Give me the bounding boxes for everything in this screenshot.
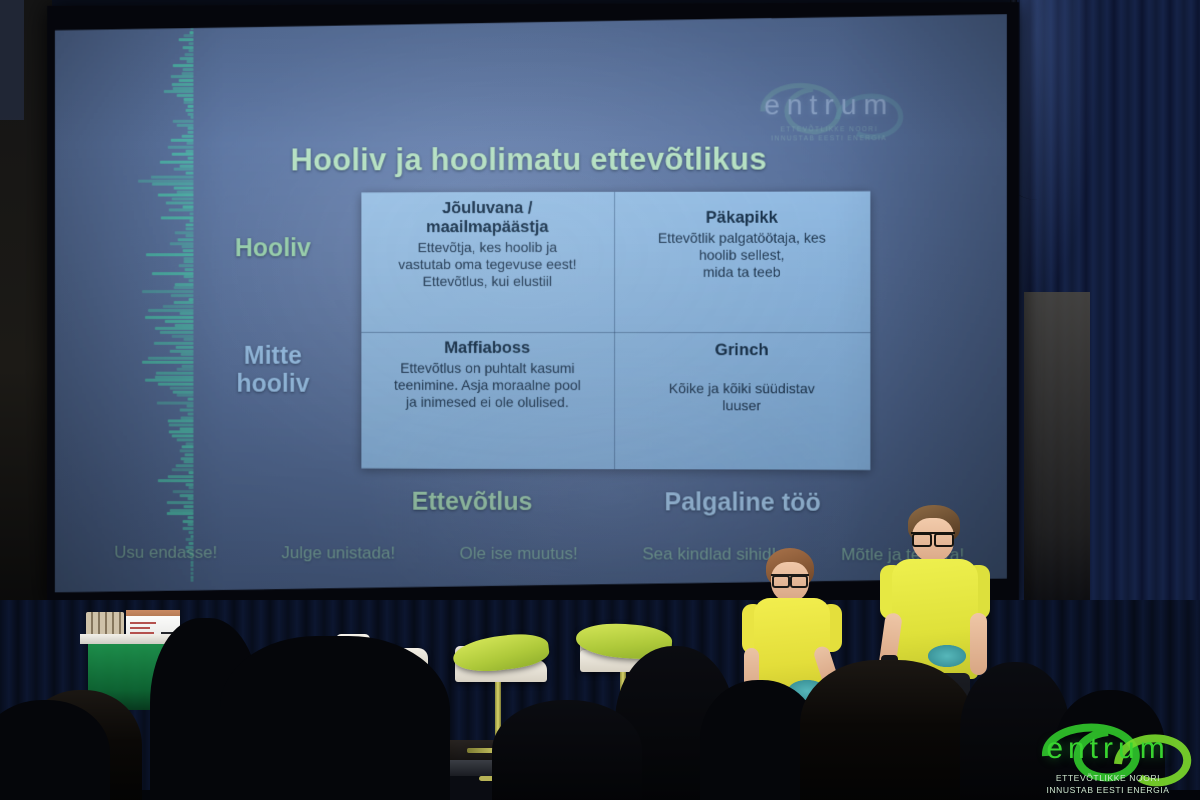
waveform-bar: [179, 494, 193, 497]
corner-logo-wordmark: entrum: [1022, 732, 1194, 766]
waveform-bar: [173, 86, 194, 89]
waveform-bar: [186, 442, 194, 445]
waveform-bar: [165, 320, 194, 323]
waveform-bar: [179, 449, 193, 452]
waveform-bar: [184, 261, 194, 264]
waveform-bar: [171, 83, 193, 86]
waveform-bar: [172, 335, 194, 338]
waveform-bar: [176, 346, 194, 349]
waveform-bar: [172, 198, 194, 201]
waveform-bar: [168, 420, 194, 423]
corner-logo-tagline: ETTEVÕTLIKKE NOORI INNUSTAB EESTI ENERGI…: [1022, 772, 1194, 797]
waveform-bar: [188, 131, 194, 134]
waveform-bar: [167, 512, 194, 515]
waveform-bar: [178, 264, 193, 267]
waveform-bar: [147, 309, 193, 312]
waveform-bar: [177, 190, 194, 193]
waveform-bar: [186, 405, 193, 408]
waveform-bar: [180, 457, 193, 460]
waveform-bar: [161, 216, 193, 219]
waveform-bar: [179, 312, 193, 315]
waveform-bar: [173, 490, 194, 493]
cell-tl-body-line2: vastutab oma tegevuse eest!: [398, 256, 576, 272]
card-line: [130, 622, 156, 624]
cell-tr-body-line3: mida ta teeb: [703, 264, 781, 280]
waveform-bar: [189, 531, 194, 534]
waveform-bar: [170, 386, 194, 389]
matrix-cell-bottom-right: Grinch Kõike ja kõiki süüdistav luuser: [614, 332, 870, 473]
waveform-bar: [187, 498, 193, 501]
waveform-bar: [138, 179, 194, 182]
photo-canvas: entrum ETTEVÕTLIKKE NOORI INNUSTAB EESTI…: [0, 0, 1200, 800]
waveform-bar: [168, 209, 193, 212]
waveform-bar: [156, 372, 193, 375]
card-line: [130, 627, 150, 629]
waveform-bar: [186, 483, 194, 486]
cell-bl-body: Ettevõtlus on puhtalt kasumi teenimine. …: [374, 360, 601, 412]
waveform-bar: [185, 227, 193, 230]
waveform-bar: [190, 212, 194, 215]
waveform-bar: [146, 253, 194, 256]
waveform-bar: [185, 109, 193, 112]
waveform-bar: [190, 31, 194, 34]
matrix-cell-top-right: Päkapikk Ettevõtlik palgatöötaja, kes ho…: [614, 191, 870, 332]
waveform-bar: [165, 201, 193, 204]
waveform-bar: [189, 279, 194, 282]
waveform-bar: [188, 398, 194, 401]
waveform-bar: [184, 98, 194, 101]
matrix-cell-bottom-left: Maffiaboss Ettevõtlus on puhtalt kasumi …: [361, 332, 614, 472]
waveform-bar: [155, 327, 193, 330]
waveform-bar: [170, 349, 193, 352]
quadrant-matrix: Jõuluvana / maailmapäästja Ettevõtja, ke…: [361, 191, 870, 470]
waveform-bar: [183, 275, 193, 278]
cell-br-body: Kõike ja kõiki süüdistav luuser: [627, 380, 857, 415]
waveform-bar: [183, 35, 193, 38]
waveform-bar: [191, 572, 194, 575]
waveform-bar: [190, 116, 193, 119]
waveform-bar: [179, 57, 193, 60]
cell-tr-heading: Päkapikk: [627, 208, 857, 228]
axis-label-mitte-line2: hooliv: [236, 370, 309, 398]
waveform-bar: [189, 42, 194, 45]
slide-entrum-logo: entrum ETTEVÕTLIKKE NOORI INNUSTAB EESTI…: [728, 67, 929, 152]
waveform-bar: [184, 101, 194, 104]
wall-strip: [0, 0, 24, 120]
waveform-bar: [184, 338, 194, 341]
waveform-bar: [191, 579, 194, 582]
cell-tl-body: Ettevõtja, kes hoolib ja vastutab oma te…: [374, 239, 601, 290]
slogan-1: Julge unistada!: [281, 543, 395, 563]
waveform-bar: [164, 90, 194, 93]
waveform-bar: [154, 375, 193, 378]
cell-tr-body-line2: hoolib sellest,: [699, 247, 785, 263]
waveform-bar: [191, 27, 194, 30]
waveform-bar: [142, 361, 194, 364]
waveform-bar: [152, 272, 194, 275]
waveform-bar: [185, 53, 194, 56]
waveform-bar: [187, 516, 193, 519]
waveform-bar: [182, 205, 193, 208]
waveform-bar: [184, 268, 193, 271]
waveform-bar: [189, 472, 194, 475]
slogan-0: Usu endasse!: [114, 543, 217, 563]
waveform-bar: [170, 242, 194, 245]
waveform-bar: [184, 461, 194, 464]
waveform-bar: [181, 353, 194, 356]
waveform-bar: [176, 94, 193, 97]
left-wall: [0, 0, 52, 610]
waveform-bar: [173, 286, 193, 289]
waveform-bar: [181, 416, 194, 419]
slide-title: Hooliv ja hoolimatu ettevõtlikus: [55, 141, 1007, 179]
waveform-bar: [182, 249, 193, 252]
waveform-bar: [185, 538, 193, 541]
waveform-bar: [188, 486, 193, 489]
waveform-bar: [154, 342, 194, 345]
waveform-bar: [188, 127, 194, 130]
axis-label-ettevotlus: Ettevõtlus: [352, 488, 592, 517]
waveform-bar: [181, 135, 193, 138]
waveform-bar: [182, 72, 194, 75]
waveform-bar: [177, 394, 193, 397]
waveform-bar: [174, 186, 194, 189]
waveform-bar: [174, 283, 193, 286]
waveform-bar: [171, 138, 194, 141]
cell-tr-body-line1: Ettevõtlik palgatöötaja, kes: [658, 230, 826, 246]
waveform-bar: [172, 120, 193, 123]
cell-tl-body-line3: Ettevõtlus, kui elustiil: [423, 273, 552, 289]
waveform-bar: [170, 509, 193, 512]
axis-label-mitte-line1: Mitte: [244, 342, 302, 370]
waveform-bar: [168, 423, 193, 426]
waveform-bar: [188, 49, 193, 52]
waveform-bar: [167, 501, 194, 504]
waveform-bar: [179, 38, 194, 41]
waveform-bar: [168, 475, 194, 478]
waveform-decoration: [126, 27, 199, 585]
axis-label-hooliv: Hooliv: [203, 234, 342, 262]
waveform-bar: [158, 194, 194, 197]
waveform-bar: [176, 464, 194, 467]
waveform-bar: [144, 379, 193, 382]
waveform-bar: [171, 294, 193, 297]
projection-screen-frame: entrum ETTEVÕTLIKKE NOORI INNUSTAB EESTI…: [47, 2, 1019, 610]
waveform-bar: [184, 453, 193, 456]
cell-tl-heading: Jõuluvana / maailmapäästja: [374, 199, 601, 238]
cell-bl-body-line3: ja inimesed ei ole olulised.: [406, 394, 569, 410]
waveform-bar: [179, 79, 194, 82]
waveform-bar: [177, 438, 194, 441]
waveform-bar: [172, 64, 193, 67]
waveform-bar: [145, 316, 194, 319]
audience-head: [220, 636, 450, 800]
waveform-bar: [158, 383, 193, 386]
audience-head: [492, 700, 642, 800]
waveform-bar: [160, 331, 194, 334]
waveform-bar: [177, 368, 194, 371]
waveform-bar: [187, 412, 193, 415]
matrix-cell-top-left: Jõuluvana / maailmapäästja Ettevõtja, ke…: [361, 192, 614, 332]
corner-logo-tagline-line2: INNUSTAB EESTI ENERGIA: [1046, 785, 1169, 795]
waveform-bar: [176, 124, 193, 127]
presenter-right-arm: [970, 613, 987, 675]
waveform-bar: [188, 298, 193, 301]
shirt-logo: [928, 645, 966, 667]
waveform-bar: [185, 235, 193, 238]
waveform-bar: [169, 431, 194, 434]
waveform-bar: [187, 61, 194, 64]
waveform-bar: [178, 238, 194, 241]
waveform-bar: [187, 112, 193, 115]
cell-tl-heading-line1: Jõuluvana /: [442, 199, 532, 217]
axis-label-palgaline-too: Palgaline töö: [612, 488, 873, 517]
waveform-bar: [148, 357, 193, 360]
waveform-bar: [180, 427, 194, 430]
waveform-bar: [187, 524, 193, 527]
waveform-bar: [184, 505, 194, 508]
axis-label-mitte-hooliv: Mitte hooliv: [203, 342, 342, 398]
waveform-bar: [157, 401, 193, 404]
cell-bl-body-line1: Ettevõtlus on puhtalt kasumi: [400, 360, 574, 376]
waveform-bar: [191, 564, 194, 567]
slogan-2: Ole ise muutus!: [460, 544, 578, 564]
corner-logo-tagline-line1: ETTEVÕTLIKKE NOORI: [1056, 773, 1160, 783]
slide-logo-wordmark: entrum: [728, 89, 929, 122]
waveform-bar: [175, 324, 193, 327]
projection-screen: entrum ETTEVÕTLIKKE NOORI INNUSTAB EESTI…: [55, 14, 1007, 596]
waveform-bar: [191, 568, 194, 571]
waveform-bar: [174, 301, 194, 304]
waveform-bar: [171, 468, 193, 471]
cell-tl-body-line1: Ettevõtja, kes hoolib ja: [418, 239, 557, 255]
bottle-row: [86, 612, 124, 636]
cell-br-heading: Grinch: [627, 341, 857, 360]
waveform-bar: [191, 575, 194, 578]
waveform-bar: [163, 305, 194, 308]
waveform-bar: [182, 446, 193, 449]
waveform-bar: [185, 224, 193, 227]
cell-tr-body: Ettevõtlik palgatöötaja, kes hoolib sell…: [627, 230, 857, 282]
waveform-bar: [181, 364, 193, 367]
waveform-bar: [175, 231, 194, 234]
cell-tl-heading-line2: maailmapäästja: [426, 218, 548, 236]
waveform-bar: [152, 183, 193, 186]
waveform-bar: [158, 479, 193, 482]
waveform-bar: [180, 409, 194, 412]
presenter-right-glasses-icon: [911, 532, 955, 544]
floor-patch: [1024, 292, 1090, 607]
waveform-bar: [182, 520, 193, 523]
waveform-bar: [173, 390, 194, 393]
corner-entrum-logo: entrum ETTEVÕTLIKKE NOORI INNUSTAB EESTI…: [1022, 716, 1194, 796]
waveform-bar: [181, 246, 193, 249]
waveform-bar: [187, 105, 193, 108]
waveform-bar: [171, 75, 193, 78]
waveform-bar: [182, 46, 193, 49]
cell-br-body-line1: Kõike ja kõiki süüdistav: [669, 380, 815, 396]
waveform-bar: [142, 290, 194, 293]
audience-head: [800, 660, 975, 800]
waveform-bar: [190, 535, 193, 538]
waveform-bar: [182, 68, 193, 71]
cell-br-body-line2: luuser: [722, 397, 760, 413]
waveform-bar: [189, 220, 193, 223]
cell-bl-heading: Maffiaboss: [374, 339, 601, 358]
presenter-left-glasses-icon: [771, 574, 809, 585]
waveform-bar: [183, 527, 194, 530]
waveform-bar: [171, 435, 193, 438]
slide-logo-tagline-line1: ETTEVÕTLIKKE NOORI: [780, 126, 877, 133]
cell-bl-body-line2: teenimine. Asja moraalne pool: [394, 377, 581, 393]
waveform-bar: [184, 257, 194, 260]
